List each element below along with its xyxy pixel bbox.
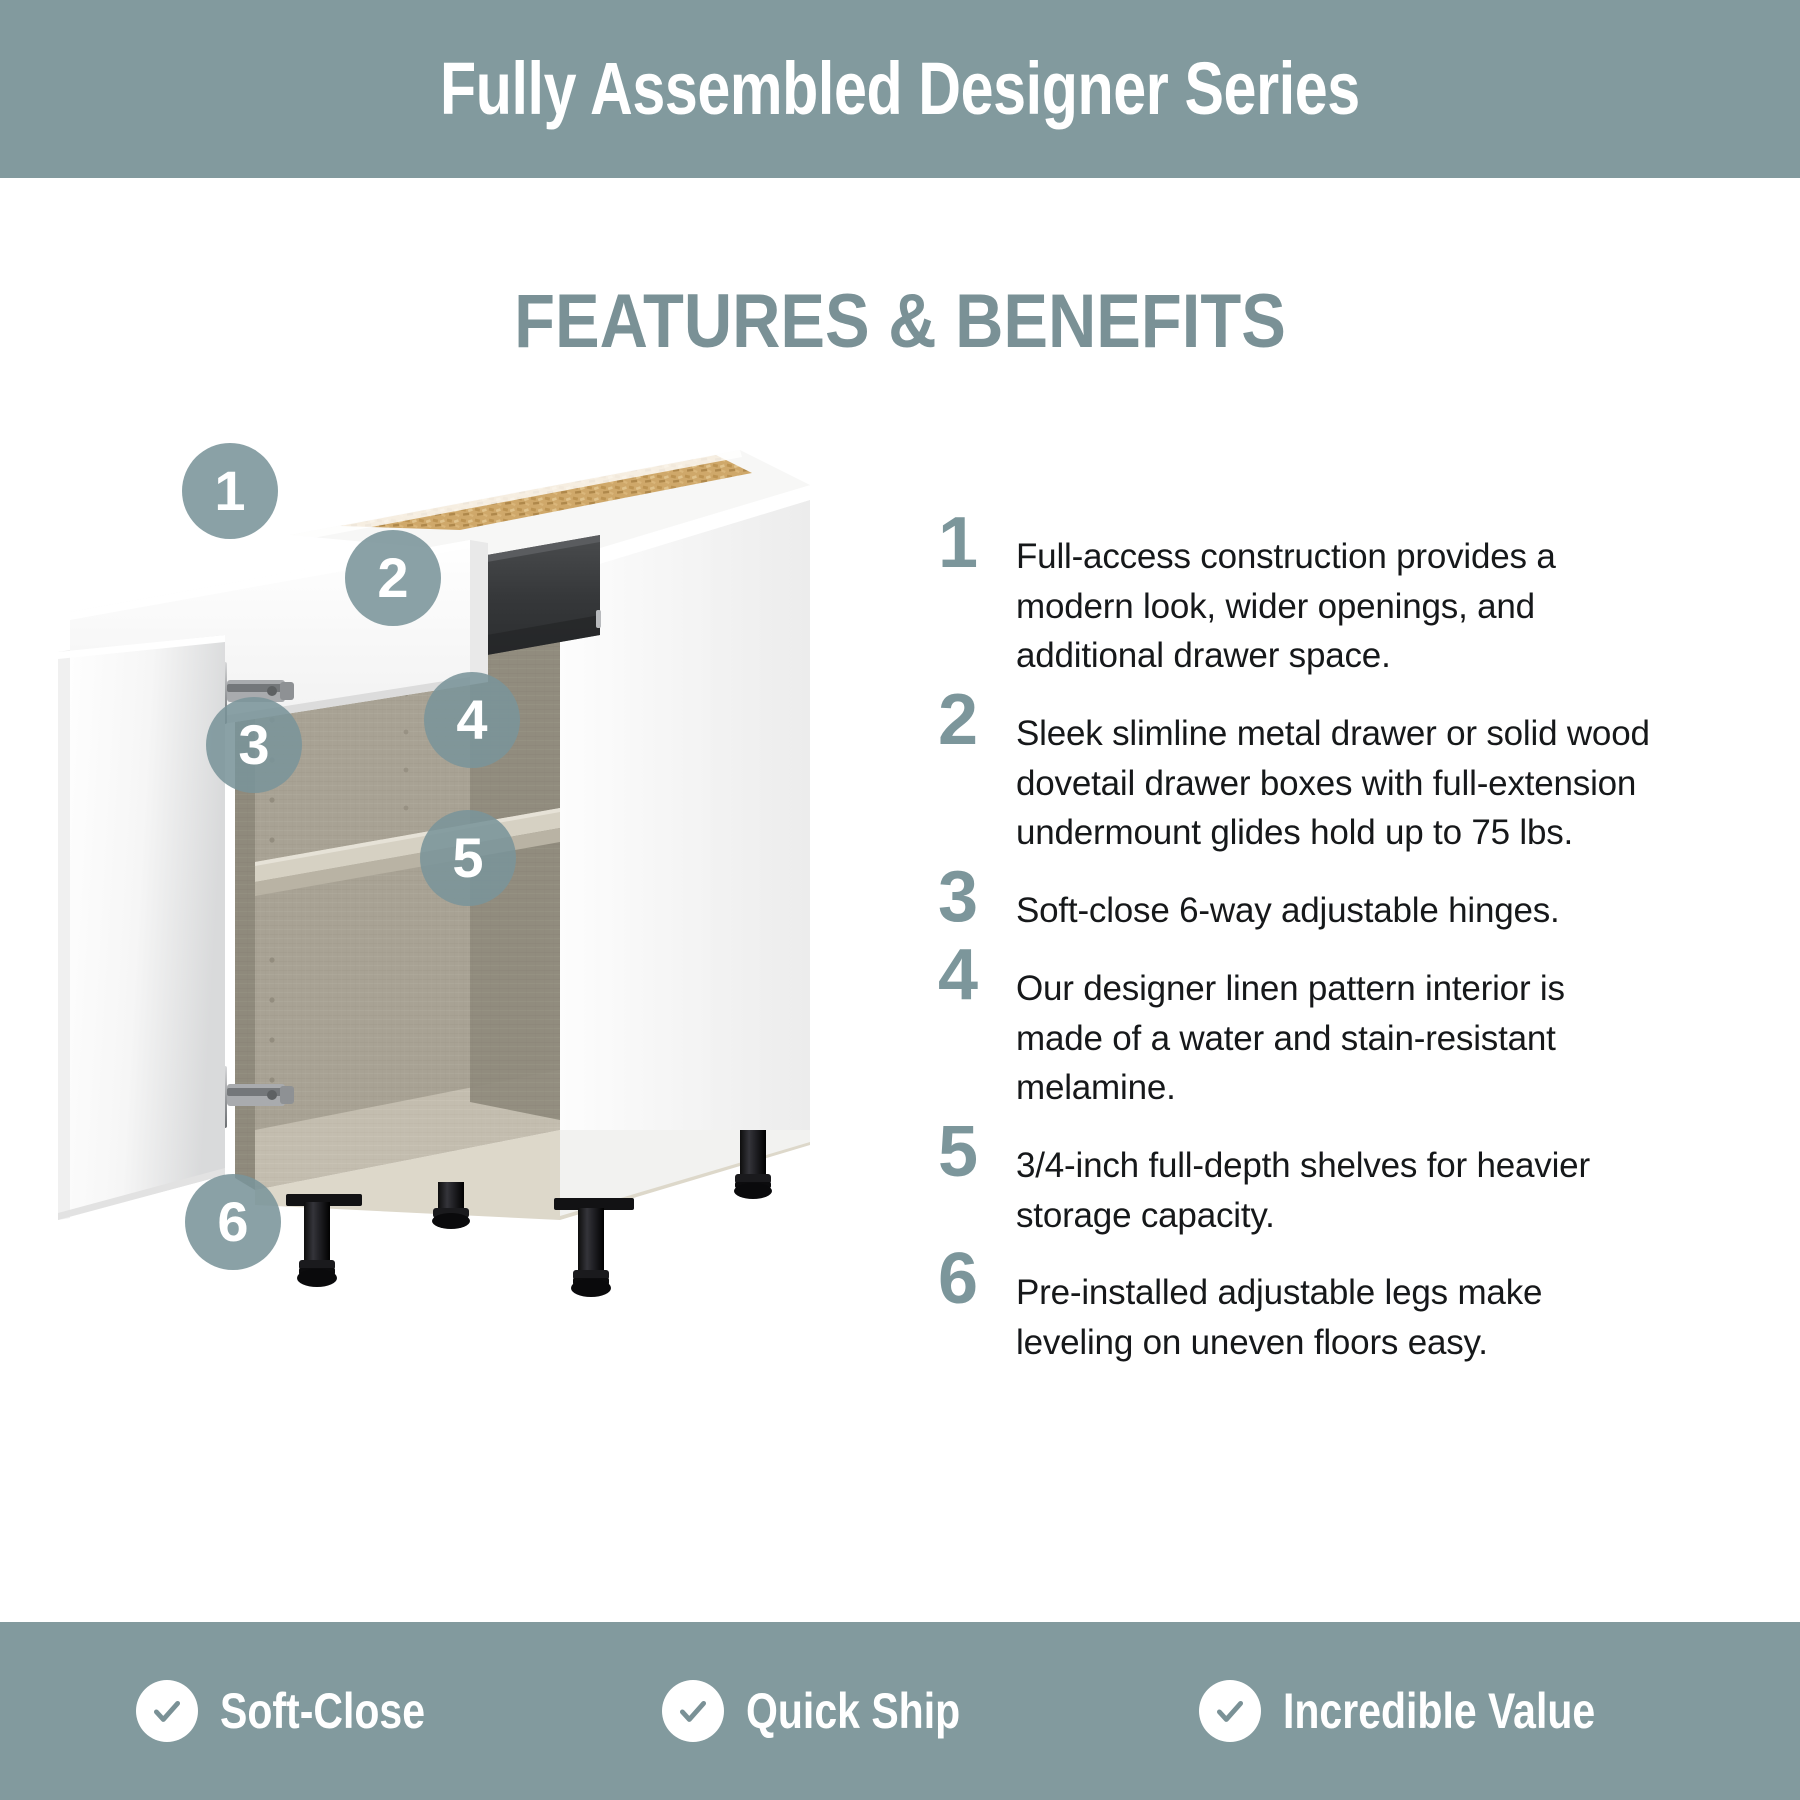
header-bar: Fully Assembled Designer Series <box>0 0 1800 178</box>
footer-label-incredible-value: Incredible Value <box>1283 1686 1595 1736</box>
feature-number-6: 6 <box>938 1250 1016 1309</box>
feature-item-3: 3 Soft-close 6-way adjustable hinges. <box>938 874 1658 936</box>
footer-item-soft-close: Soft-Close <box>136 1680 470 1742</box>
check-circle-icon <box>662 1680 724 1742</box>
feature-item-6: 6 Pre-installed adjustable legs make lev… <box>938 1256 1658 1367</box>
footer-label-soft-close: Soft-Close <box>220 1686 425 1736</box>
callout-badge-5[interactable]: 5 <box>420 810 516 906</box>
callout-badge-6[interactable]: 6 <box>185 1174 281 1270</box>
feature-number-3: 3 <box>938 868 1016 927</box>
feature-text-2: Sleek slimline metal drawer or solid woo… <box>1016 697 1658 858</box>
footer-badges: Soft-Close Quick Ship Incredible Value <box>0 1680 1800 1742</box>
feature-text-5: 3/4-inch full-depth shelves for heavier … <box>1016 1129 1658 1240</box>
features-list: 1 Full-access construction provides a mo… <box>938 520 1658 1384</box>
callout-badge-3[interactable]: 3 <box>206 697 302 793</box>
page-title: Fully Assembled Designer Series <box>440 52 1360 126</box>
feature-text-4: Our designer linen pattern interior is m… <box>1016 952 1658 1113</box>
callout-badge-4[interactable]: 4 <box>424 672 520 768</box>
feature-number-1: 1 <box>938 514 1016 573</box>
footer-bar: Soft-Close Quick Ship Incredible Value <box>0 1622 1800 1800</box>
footer-item-quick-ship: Quick Ship <box>662 1680 1007 1742</box>
feature-item-2: 2 Sleek slimline metal drawer or solid w… <box>938 697 1658 858</box>
feature-number-2: 2 <box>938 691 1016 750</box>
feature-item-5: 5 3/4-inch full-depth shelves for heavie… <box>938 1129 1658 1240</box>
feature-number-4: 4 <box>938 946 1016 1005</box>
feature-text-3: Soft-close 6-way adjustable hinges. <box>1016 874 1658 936</box>
footer-label-quick-ship: Quick Ship <box>746 1686 960 1736</box>
feature-text-6: Pre-installed adjustable legs make level… <box>1016 1256 1658 1367</box>
feature-number-5: 5 <box>938 1123 1016 1182</box>
feature-item-4: 4 Our designer linen pattern interior is… <box>938 952 1658 1113</box>
cabinet-door-open <box>58 635 225 1220</box>
callout-badge-2[interactable]: 2 <box>345 530 441 626</box>
feature-item-1: 1 Full-access construction provides a mo… <box>938 520 1658 681</box>
section-heading: FEATURES & BENEFITS <box>108 284 1692 360</box>
check-circle-icon <box>136 1680 198 1742</box>
callout-badge-1[interactable]: 1 <box>182 443 278 539</box>
check-circle-icon <box>1199 1680 1261 1742</box>
footer-item-incredible-value: Incredible Value <box>1199 1680 1664 1742</box>
feature-text-1: Full-access construction provides a mode… <box>1016 520 1658 681</box>
